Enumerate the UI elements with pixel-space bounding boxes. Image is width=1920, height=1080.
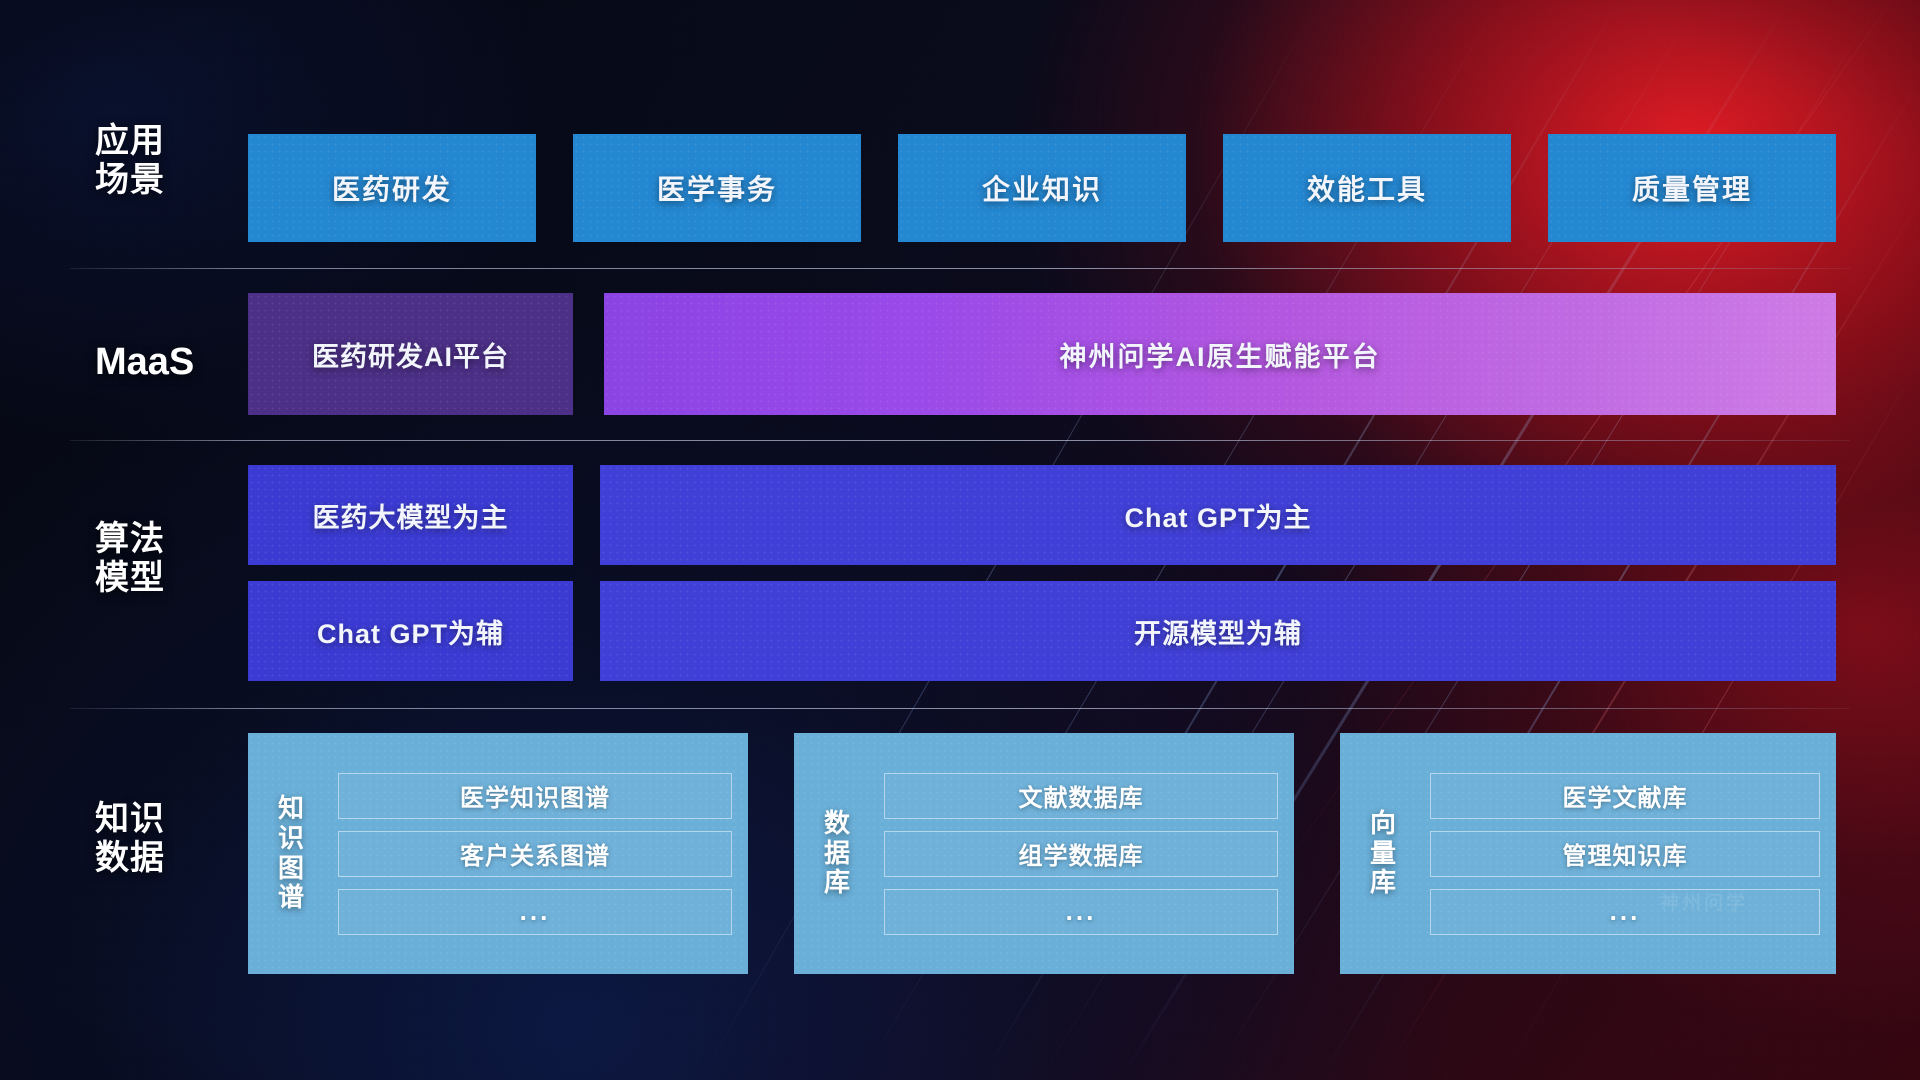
knowledge-item-more[interactable]: ...: [884, 889, 1278, 935]
vlabel-char: 据: [824, 839, 850, 869]
knowledge-item[interactable]: 医学文献库: [1430, 773, 1820, 819]
vlabel-char: 谱: [278, 883, 304, 913]
knowledge-group-graph[interactable]: 知 识 图 谱 医学知识图谱 客户关系图谱 ...: [248, 733, 748, 974]
algo-box-medicine-llm-primary[interactable]: 医药大模型为主: [248, 465, 573, 565]
knowledge-item[interactable]: 组学数据库: [884, 831, 1278, 877]
knowledge-item[interactable]: 客户关系图谱: [338, 831, 732, 877]
vlabel-char: 库: [824, 868, 850, 898]
knowledge-item-more[interactable]: ...: [338, 889, 732, 935]
knowledge-group-database-label: 数 据 库: [804, 747, 870, 960]
row-label-algorithm-line1: 算法: [95, 520, 235, 559]
algo-box-chatgpt-primary[interactable]: Chat GPT为主: [600, 465, 1836, 565]
row-label-algorithm: 算法 模型: [95, 520, 235, 599]
divider-maas-algorithm: [70, 440, 1850, 441]
algo-box-opensource-secondary[interactable]: 开源模型为辅: [600, 581, 1836, 681]
app-box-efficiency-tools[interactable]: 效能工具: [1223, 134, 1511, 242]
knowledge-group-vector-label: 向 量 库: [1350, 747, 1416, 960]
maas-box-shenzhou-platform[interactable]: 神州问学AI原生赋能平台: [604, 293, 1836, 415]
app-box-quality-management[interactable]: 质量管理: [1548, 134, 1836, 242]
vlabel-char: 量: [1370, 839, 1396, 869]
knowledge-group-database-items: 文献数据库 组学数据库 ...: [870, 747, 1278, 960]
knowledge-group-vector[interactable]: 向 量 库 医学文献库 管理知识库 ...: [1340, 733, 1836, 974]
knowledge-item-more[interactable]: ...: [1430, 889, 1820, 935]
knowledge-group-graph-label: 知 识 图 谱: [258, 747, 324, 960]
row-label-knowledge-line1: 知识: [95, 800, 235, 839]
vlabel-char: 识: [278, 824, 304, 854]
vlabel-char: 数: [824, 809, 850, 839]
app-box-medical-affairs[interactable]: 医学事务: [573, 134, 861, 242]
row-label-knowledge: 知识 数据: [95, 800, 235, 879]
vlabel-char: 图: [278, 854, 304, 884]
vlabel-char: 库: [1370, 868, 1396, 898]
app-box-enterprise-knowledge[interactable]: 企业知识: [898, 134, 1186, 242]
divider-algorithm-knowledge: [70, 708, 1850, 709]
algo-box-chatgpt-secondary[interactable]: Chat GPT为辅: [248, 581, 573, 681]
row-label-application-line1: 应用: [95, 122, 235, 161]
knowledge-item[interactable]: 医学知识图谱: [338, 773, 732, 819]
knowledge-item[interactable]: 管理知识库: [1430, 831, 1820, 877]
vlabel-char: 向: [1370, 809, 1396, 839]
maas-box-medicine-ai-platform[interactable]: 医药研发AI平台: [248, 293, 573, 415]
knowledge-group-database[interactable]: 数 据 库 文献数据库 组学数据库 ...: [794, 733, 1294, 974]
row-label-application: 应用 场景: [95, 122, 235, 201]
knowledge-item[interactable]: 文献数据库: [884, 773, 1278, 819]
knowledge-group-graph-items: 医学知识图谱 客户关系图谱 ...: [324, 747, 732, 960]
divider-application-maas: [70, 268, 1850, 269]
architecture-diagram: 应用 场景 医药研发 医学事务 企业知识 效能工具 质量管理 MaaS 医药研发…: [0, 0, 1920, 1080]
knowledge-group-vector-items: 医学文献库 管理知识库 ...: [1416, 747, 1820, 960]
row-label-application-line2: 场景: [95, 161, 235, 200]
app-box-medicine-rd[interactable]: 医药研发: [248, 134, 536, 242]
row-label-knowledge-line2: 数据: [95, 839, 235, 878]
row-label-maas: MaaS: [95, 340, 235, 384]
row-label-algorithm-line2: 模型: [95, 559, 235, 598]
vlabel-char: 知: [278, 794, 304, 824]
